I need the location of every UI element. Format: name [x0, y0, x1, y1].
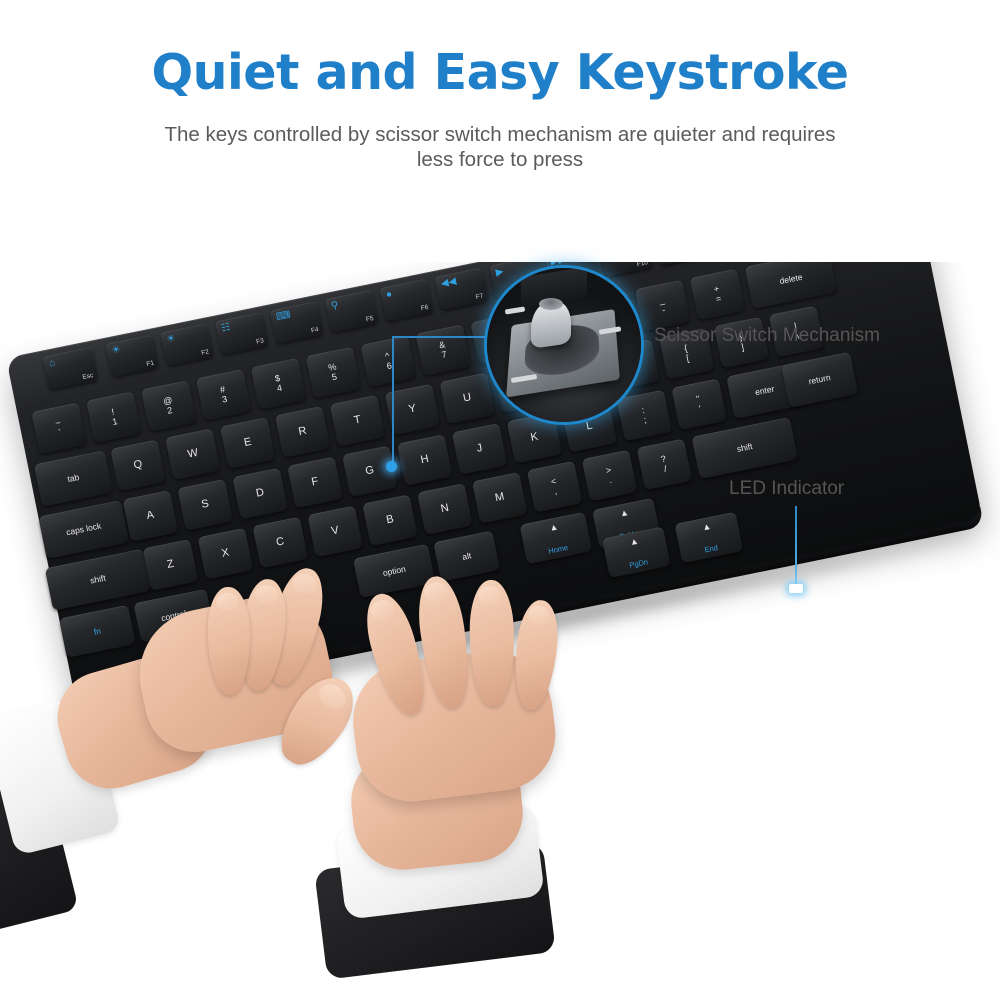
key-label: V [330, 525, 339, 538]
key-label: M [494, 491, 505, 504]
right-hand [330, 598, 750, 948]
scissor-switch-magnifier [487, 268, 641, 422]
product-marketing-image: ⌂Esc☀F1☀F2☷F3⌨F4⚲F5●F6◀◀F7▶F8▶▶F9◂F10◂F1… [0, 0, 1000, 1000]
key-label: += [713, 285, 722, 305]
key-label: tab [67, 473, 80, 484]
key-label: !1 [110, 407, 119, 426]
callout-label-led-indicator: LED Indicator [729, 478, 844, 500]
key-fn-label: F3 [256, 337, 265, 345]
key-fn-label: Esc [82, 372, 94, 381]
key-label: shift [736, 442, 753, 454]
key-label: caps lock [65, 522, 102, 538]
key-label: T [353, 414, 362, 427]
key-label: A [146, 509, 155, 522]
key-label: ?/ [660, 455, 669, 474]
led-leader-line [795, 506, 797, 586]
scissor-leader-vertical [392, 336, 394, 466]
key-label: #3 [219, 385, 228, 404]
key-label: option [382, 564, 406, 577]
key-label: Home [548, 543, 569, 556]
page-title: Quiet and Easy Keystroke [0, 44, 1000, 101]
arrow-icon: ▲ [548, 521, 559, 533]
key-label: N [440, 503, 450, 516]
key-label: <, [550, 477, 559, 497]
brightness-down-icon: ☀ [111, 344, 122, 357]
key-label: Q [133, 459, 144, 472]
key-label: H [420, 454, 430, 467]
key-label: S [201, 498, 210, 511]
rewind-icon: ◀◀ [440, 276, 457, 290]
page-subtitle: The keys controlled by scissor switch me… [150, 122, 850, 172]
key-label: &7 [438, 340, 448, 360]
brightness-up-icon: ☀ [166, 333, 177, 346]
arrow-icon: ▲ [701, 521, 712, 533]
key-label: %5 [328, 362, 340, 382]
key-label: PgDn [629, 557, 649, 570]
home-screen-icon: ⌂ [48, 357, 56, 369]
key-label: End [704, 543, 719, 554]
key-label: Y [408, 403, 417, 416]
keyboard-light-icon: ⌨ [275, 310, 291, 324]
key-fn-label: F4 [310, 326, 319, 334]
key-label: F [311, 476, 320, 489]
key-fn-label: F1 [146, 360, 155, 368]
key-fn-label: F7 [475, 293, 484, 301]
key-label: X [221, 547, 230, 560]
app-grid-icon: ☷ [220, 322, 231, 335]
key-label: W [187, 447, 199, 460]
scissor-leader-endpoint [386, 461, 397, 472]
key-label: U [462, 392, 472, 405]
key-label: C [275, 536, 285, 549]
key-label: shift [89, 574, 106, 586]
subtitle-line-1: The keys controlled by scissor switch me… [164, 123, 715, 146]
key-label: :; [641, 406, 647, 425]
key-label: @2 [162, 396, 175, 416]
arrow-icon: ▲ [629, 536, 640, 548]
key-label: "' [696, 395, 703, 414]
key-label: R [298, 425, 308, 438]
key-label: return [808, 373, 832, 386]
key-label: enter [754, 385, 775, 398]
scissor-leader-horizontal [392, 336, 487, 338]
key-fn-label: F5 [365, 315, 374, 323]
key-label: D [255, 487, 265, 500]
key-fn-label: F6 [420, 304, 429, 312]
arrow-icon: ▲ [619, 507, 630, 519]
key-label: E [243, 437, 252, 450]
key-label: G [365, 465, 376, 478]
search-icon: ⚲ [330, 300, 339, 312]
key-label: alt [461, 551, 472, 562]
right-little-finger [510, 598, 561, 712]
key-label: B [385, 514, 394, 527]
key-label: L [585, 420, 593, 433]
led-leader-endpoint [789, 584, 803, 593]
key-label: _- [658, 296, 667, 315]
callout-label-scissor-switch: Scissor Switch Mechanism [654, 325, 880, 347]
key-label: J [476, 443, 484, 455]
key-label: K [530, 431, 539, 444]
switch-stem-top [539, 298, 563, 310]
key-fn-label: F2 [201, 349, 210, 357]
key-label: $4 [274, 374, 283, 393]
key-label: delete [779, 273, 803, 286]
key-label: Z [166, 559, 175, 572]
key-label: ~` [55, 419, 64, 439]
key-label: >. [605, 466, 614, 486]
globe-icon: ● [385, 289, 393, 301]
